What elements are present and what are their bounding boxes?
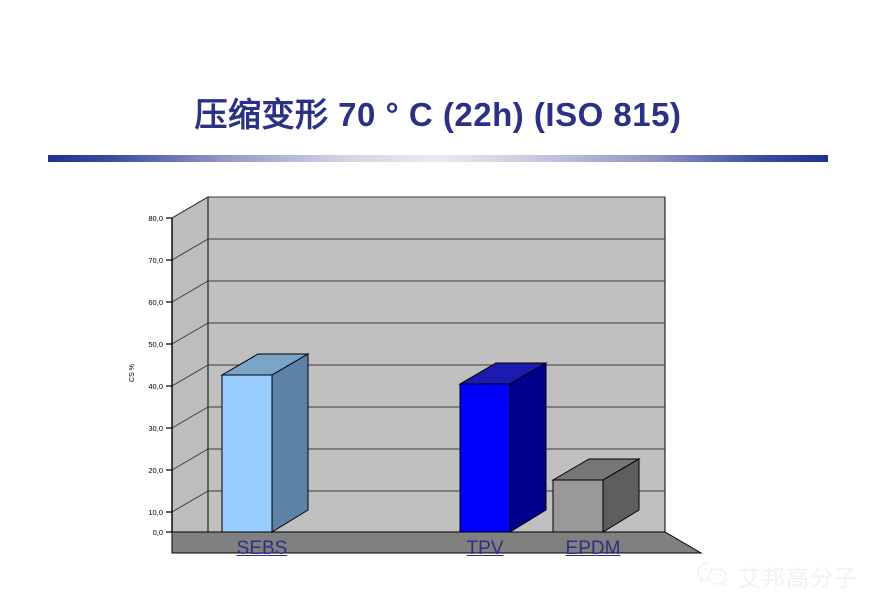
- bar-sebs-side: [272, 354, 308, 532]
- bar-sebs[interactable]: [222, 354, 308, 532]
- category-label-tpv: TPV: [445, 538, 525, 560]
- bar-sebs-front: [222, 375, 272, 532]
- y-tick-label: 20,0: [148, 466, 163, 475]
- y-axis: [166, 218, 172, 532]
- category-label-epdm: EPDM: [538, 538, 648, 560]
- y-tick-labels: 80,0 70,0 60,0 50,0 40,0 30,0 20,0 10,0 …: [148, 214, 163, 537]
- y-tick-label: 60,0: [148, 298, 163, 307]
- y-axis-title: CS %: [129, 364, 136, 382]
- watermark: 艾邦高分子: [696, 559, 858, 593]
- wechat-icon: [696, 560, 730, 593]
- y-tick-label: 10,0: [148, 508, 163, 517]
- bar-tpv-front: [460, 384, 510, 532]
- bar-tpv[interactable]: [460, 363, 546, 532]
- y-tick-label: 70,0: [148, 256, 163, 265]
- bar-epdm-front: [553, 480, 603, 532]
- y-tick-label: 40,0: [148, 382, 163, 391]
- page-title: 压缩变形 70 ° C (22h) (ISO 815): [0, 88, 876, 136]
- y-tick-label: 80,0: [148, 214, 163, 223]
- title-divider: [48, 155, 828, 162]
- category-label-sebs: SEBS: [212, 538, 312, 560]
- y-tick-label: 50,0: [148, 340, 163, 349]
- watermark-text: 艾邦高分子: [738, 559, 858, 593]
- bar-tpv-side: [510, 363, 546, 532]
- bar-chart: 80,0 70,0 60,0 50,0 40,0 30,0 20,0 10,0 …: [110, 185, 730, 555]
- y-tick-label: 30,0: [148, 424, 163, 433]
- chart-canvas: 80,0 70,0 60,0 50,0 40,0 30,0 20,0 10,0 …: [110, 185, 730, 555]
- y-tick-label: 0,0: [153, 528, 163, 537]
- plot-left-wall: [172, 197, 208, 532]
